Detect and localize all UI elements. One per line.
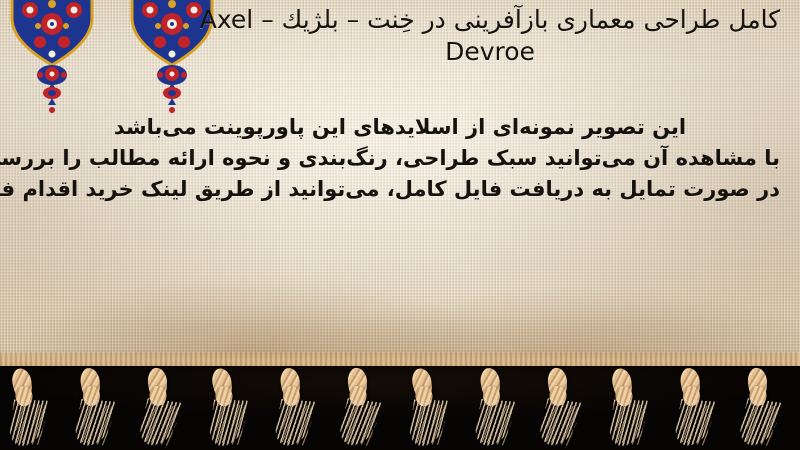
- fringe-tassel: [137, 365, 185, 447]
- fringe-tassel: [404, 365, 452, 447]
- fringe-tassel: [737, 365, 785, 447]
- fringe-tassel: [673, 366, 717, 446]
- fringe-tassel: [337, 365, 385, 447]
- fringe-tassel: [4, 365, 52, 447]
- fringe-tassel: [73, 366, 117, 446]
- tassel-strands-inner: [280, 402, 312, 446]
- body-line-3: در صورت تمایل به دریافت فایل کامل، می‌تو…: [20, 174, 780, 205]
- carpet-pendant-small-icon-right: [161, 86, 183, 108]
- fringe-tassel: [204, 365, 252, 447]
- tassel-strands-inner: [680, 402, 712, 446]
- body-line-2: با مشاهده آن می‌توانید سبک طراحی، رنگ‌بن…: [20, 143, 780, 174]
- carpet-fringe-row: [0, 366, 800, 450]
- fringe-tassel: [537, 365, 585, 447]
- tassel-strands-inner: [80, 402, 112, 446]
- tassel-strands-inner: [415, 403, 445, 445]
- carpet-medallion-icon-left: [6, 0, 98, 66]
- tassel-strands-inner: [215, 403, 245, 445]
- carpet-pendant-small-icon-left: [41, 86, 63, 108]
- fringe-tassel: [273, 366, 317, 446]
- tassel-strands-inner: [15, 403, 45, 445]
- slide-canvas: کامل طراحی معماری بازآفرینی در خِنت – بل…: [0, 0, 800, 450]
- body-line-1: این تصویر نمونه‌ای از اسلایدهای این پاور…: [20, 112, 780, 143]
- tassel-strands-inner: [615, 403, 645, 445]
- tassel-strands-inner: [480, 402, 512, 446]
- slide-title: کامل طراحی معماری بازآفرینی در خِنت – بل…: [190, 4, 790, 68]
- slide-body-text: این تصویر نمونه‌ای از اسلایدهای این پاور…: [20, 112, 780, 205]
- fringe-tassel: [604, 365, 652, 447]
- fringe-tassel: [473, 366, 517, 446]
